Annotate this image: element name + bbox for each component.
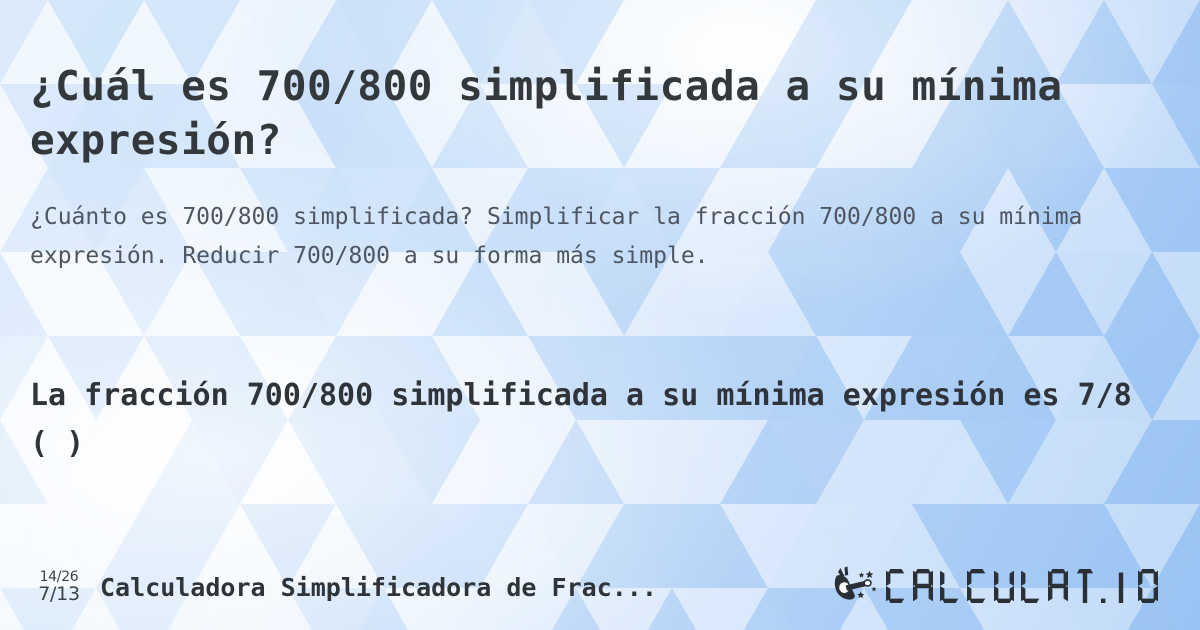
answer-statement: La fracción 700/800 simplificada a su mí…: [30, 372, 1150, 468]
card-footer: 14/26 7/13 Calculadora Simplificadora de…: [0, 544, 1200, 630]
fraction-simplify-icon: 14/26 7/13: [28, 570, 90, 604]
fraction-icon-numerator: 14/26: [28, 570, 90, 584]
brand-wordmark: [884, 566, 1170, 608]
share-card: ¿Cuál es 700/800 simplificada a su mínim…: [0, 0, 1200, 630]
fraction-icon-denominator: 7/13: [28, 585, 90, 604]
page-title: ¿Cuál es 700/800 simplificada a su mínim…: [30, 59, 1180, 167]
brand-logo[interactable]: [832, 566, 1182, 608]
card-content: ¿Cuál es 700/800 simplificada a su mínim…: [0, 0, 1200, 630]
page-description: ¿Cuánto es 700/800 simplificada? Simplif…: [30, 198, 1128, 276]
footer-site-title: Calculadora Simplificadora de Frac...: [100, 573, 832, 602]
hand-magic-wand-icon: [832, 566, 878, 608]
